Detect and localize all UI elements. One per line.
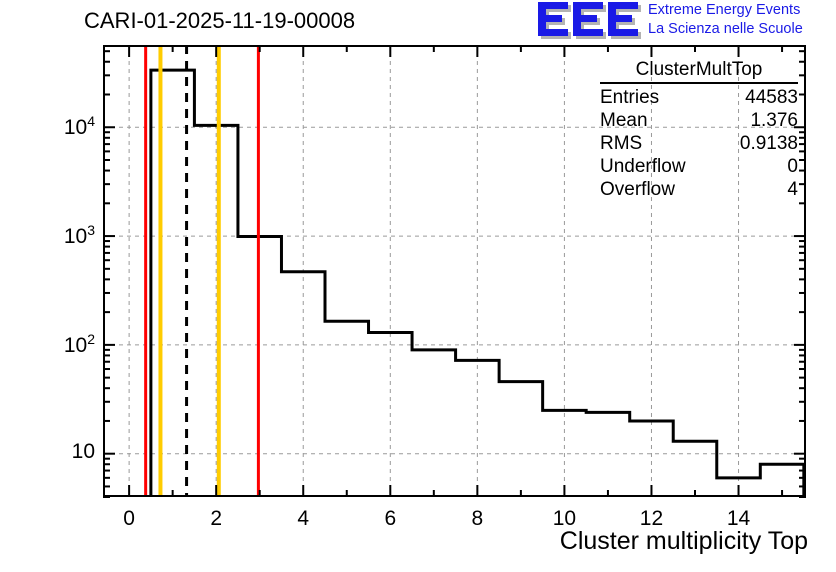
eee-logo-letter-e-3	[608, 2, 638, 36]
y-axis-tick-label: 10	[7, 440, 95, 464]
stats-row: Underflow0	[600, 155, 798, 178]
y-axis-tick-label: 102	[7, 331, 95, 358]
stats-row-value: 1.376	[750, 109, 798, 132]
y-axis-tick-label: 103	[7, 222, 95, 249]
eee-logo-line1: Extreme Energy Events	[648, 1, 803, 20]
stats-title: ClusterMultTop	[600, 59, 798, 82]
x-axis-tick-label: 4	[263, 507, 343, 531]
stats-row-key: Overflow	[600, 178, 675, 201]
eee-logo-letter-face	[573, 2, 603, 36]
eee-logo: Extreme Energy Events La Scienza nelle S…	[538, 1, 834, 43]
x-axis-tick-label: 2	[176, 507, 256, 531]
stats-divider	[600, 82, 798, 84]
stats-row-key: Underflow	[600, 155, 686, 178]
stats-row: RMS0.9138	[600, 132, 798, 155]
eee-logo-letter-face	[538, 2, 568, 36]
y-axis-tick-label: 104	[7, 113, 95, 140]
eee-logo-letter-e-2	[573, 2, 603, 36]
stats-row-key: Entries	[600, 86, 659, 109]
stats-row-value: 4	[787, 178, 798, 201]
eee-logo-text: Extreme Energy Events La Scienza nelle S…	[648, 1, 803, 39]
stats-row-key: RMS	[600, 132, 642, 155]
eee-logo-letters	[538, 2, 642, 38]
x-axis-title: Cluster multiplicity Top	[560, 527, 808, 556]
page-title: CARI-01-2025-11-19-00008	[84, 8, 355, 34]
stats-row: Mean1.376	[600, 109, 798, 132]
stats-row-key: Mean	[600, 109, 648, 132]
eee-logo-line2: La Scienza nelle Scuole	[648, 20, 803, 39]
stats-row: Entries44583	[600, 86, 798, 109]
stats-box: ClusterMultTop Entries44583Mean1.376RMS0…	[600, 59, 798, 201]
stats-row-value: 0	[787, 155, 798, 178]
x-axis-tick-label: 8	[437, 507, 517, 531]
stats-rows: Entries44583Mean1.376RMS0.9138Underflow0…	[600, 86, 798, 201]
eee-logo-letter-face	[608, 2, 638, 36]
eee-logo-letter-e-1	[538, 2, 568, 36]
stats-row-value: 0.9138	[740, 132, 798, 155]
x-axis-tick-label: 6	[350, 507, 430, 531]
stats-row: Overflow4	[600, 178, 798, 201]
stats-row-value: 44583	[745, 86, 798, 109]
x-axis-tick-label: 0	[89, 507, 169, 531]
